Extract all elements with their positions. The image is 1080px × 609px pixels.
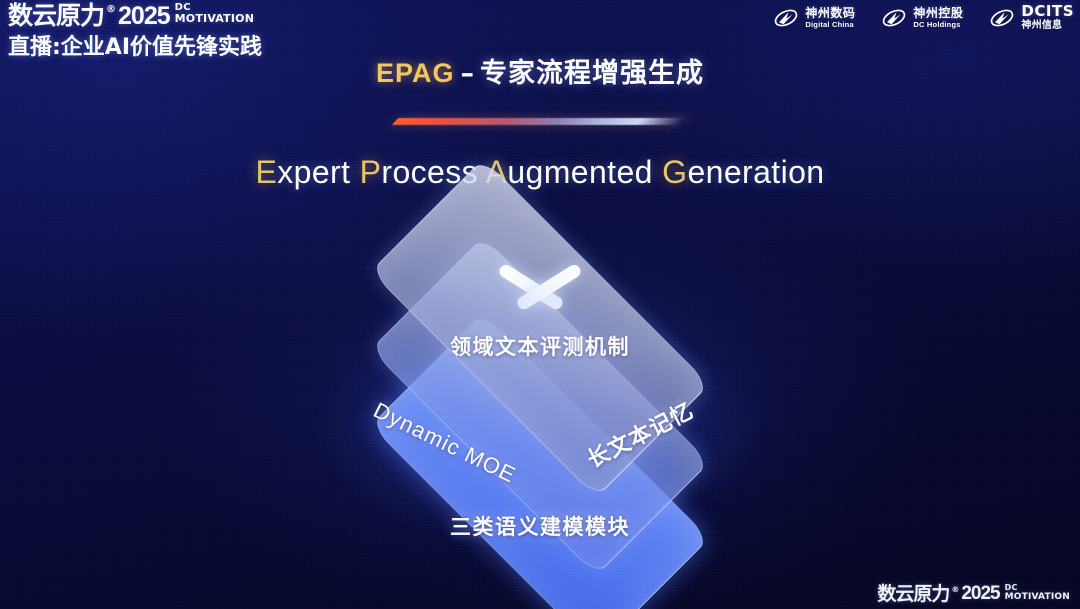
footer-watermark-logo: 数云原力 ® 2025 DC MOTIVATION: [877, 583, 1070, 605]
watermark-motivation-label: MOTIVATION: [1005, 592, 1070, 602]
presentation-slide: 数云原力 ® 2025 DC MOTIVATION 直播:企业AI价值先锋实践 …: [0, 0, 1080, 609]
top-layer-label: 领域文本评测机制: [0, 331, 1080, 361]
bottom-layer-label: 三类语义建模模块: [0, 511, 1080, 541]
watermark-registered-mark-icon: ®: [951, 583, 959, 594]
layer-stack-diagram: 领域文本评测机制 Dynamic MOE 长文本记忆 三类语义建模模块: [0, 0, 1080, 609]
watermark-year: 2025: [961, 583, 999, 605]
watermark-tagline: DC MOTIVATION: [1005, 583, 1070, 602]
watermark-name-cn: 数云原力: [877, 583, 949, 605]
watermark-logo-main: 数云原力 ® 2025 DC MOTIVATION: [877, 583, 1070, 605]
chevron-up-icon: [478, 268, 602, 312]
watermark-dc-label: DC: [1005, 584, 1070, 592]
top-plate-shape: [370, 158, 709, 497]
